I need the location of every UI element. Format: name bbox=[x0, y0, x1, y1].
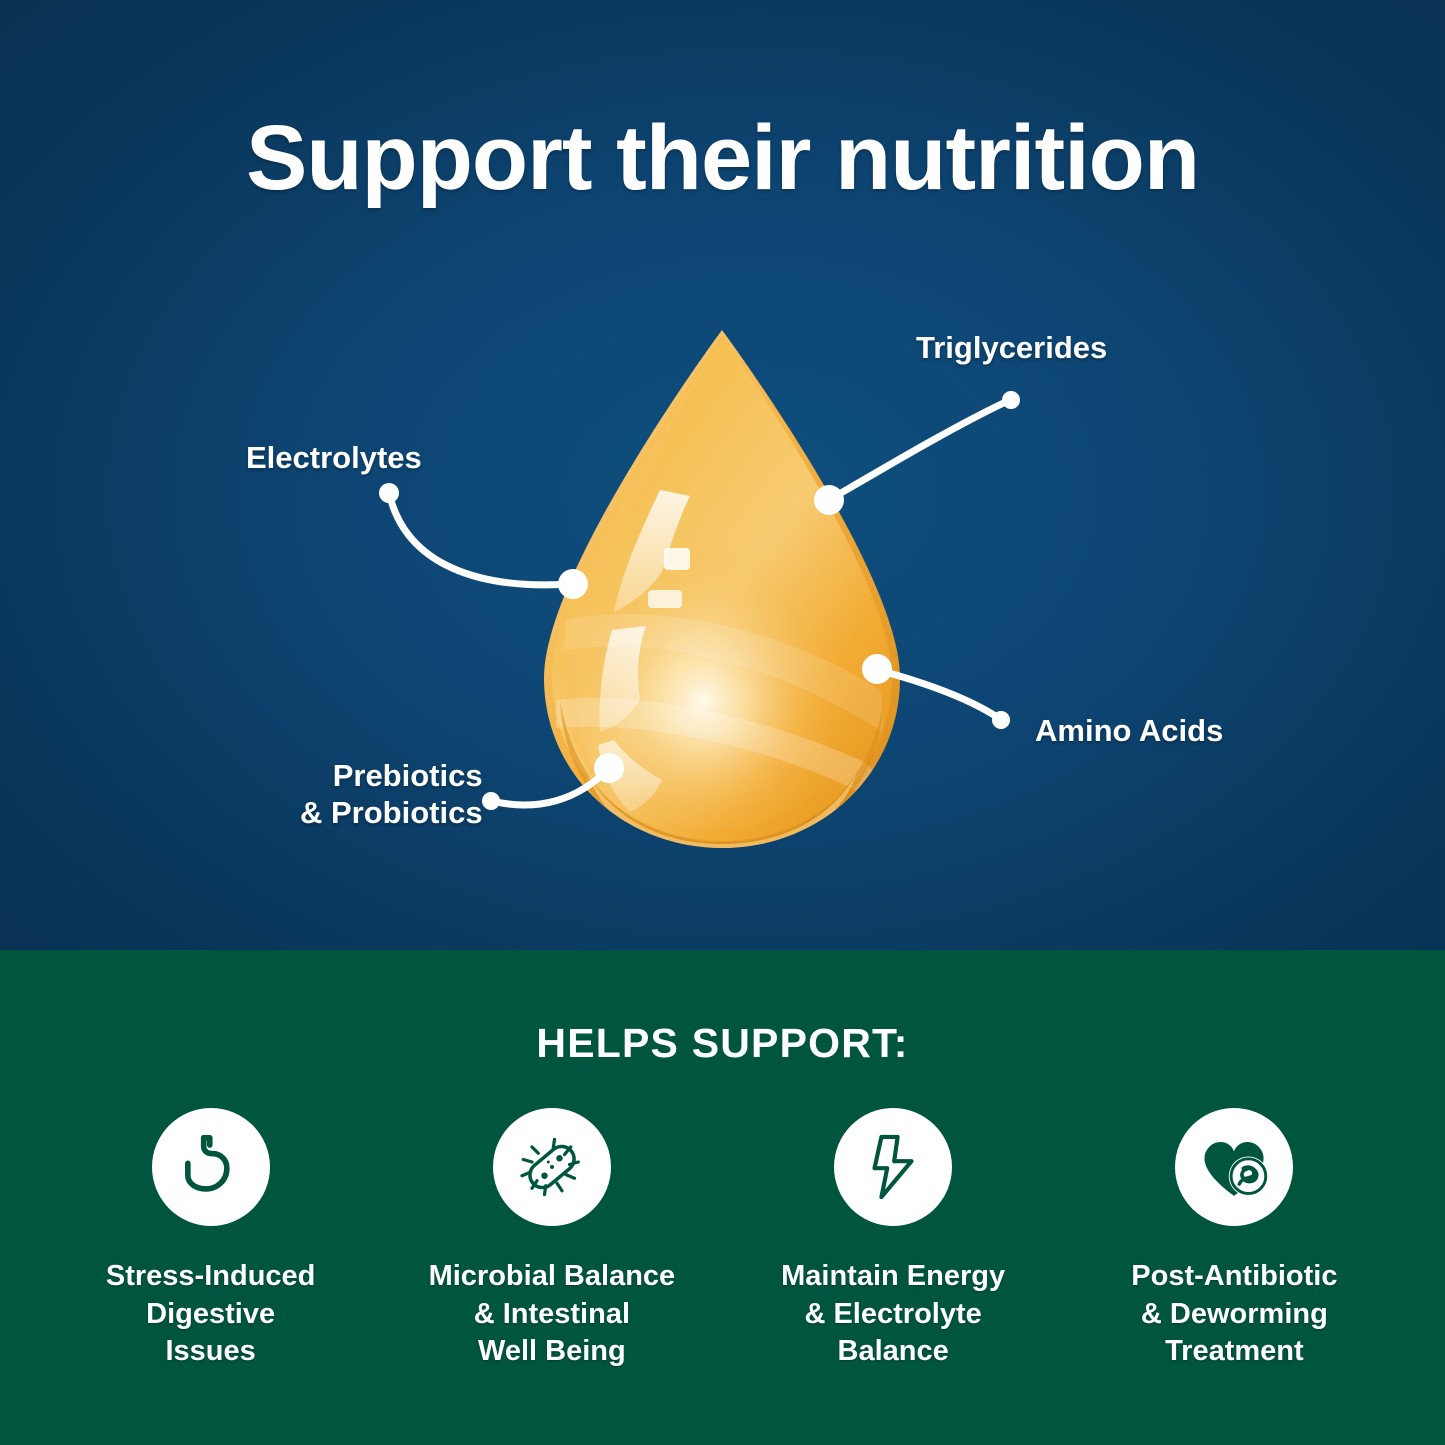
support-item-digestive: Stress-Induced Digestive Issues bbox=[66, 1108, 356, 1371]
callout-label-dots bbox=[379, 391, 1020, 810]
leader-line-electrolytes bbox=[389, 493, 572, 585]
leader-line-prebiotics bbox=[492, 769, 608, 805]
helps-support-heading: HELPS SUPPORT: bbox=[0, 1020, 1445, 1067]
support-label-post-antibiotic: Post-Antibiotic & Deworming Treatment bbox=[1131, 1258, 1337, 1371]
callout-anchor-dots bbox=[558, 485, 892, 783]
dot-triglycerides-label bbox=[1002, 391, 1020, 409]
droplet-highlight-c bbox=[598, 740, 662, 812]
stomach-icon bbox=[152, 1108, 270, 1226]
droplet-highlight-d bbox=[664, 548, 690, 570]
leader-line-amino-acids bbox=[878, 670, 1000, 719]
support-item-energy: Maintain Energy & Electrolyte Balance bbox=[748, 1108, 1038, 1371]
dot-electrolytes-label bbox=[379, 483, 399, 503]
callout-label-prebiotics-line2: & Probiotics bbox=[300, 795, 483, 832]
leader-line-triglycerides bbox=[829, 400, 1010, 500]
dot-electrolytes-anchor bbox=[558, 569, 588, 599]
page-title: Support their nutrition bbox=[0, 112, 1445, 204]
dot-prebiotics-anchor bbox=[594, 753, 624, 783]
callout-leader-lines bbox=[389, 400, 1010, 805]
hero-blue-panel: Support their nutrition bbox=[0, 0, 1445, 950]
droplet-core-glow bbox=[556, 490, 876, 830]
droplet-bottom-shadow bbox=[560, 700, 884, 848]
droplet-highlight-a bbox=[614, 490, 690, 612]
support-label-digestive: Stress-Induced Digestive Issues bbox=[106, 1258, 316, 1371]
infographic-page: Support their nutrition bbox=[0, 0, 1445, 1445]
dot-prebiotics-label bbox=[482, 792, 500, 810]
heart-worm-icon bbox=[1175, 1108, 1293, 1226]
callout-label-prebiotics: Prebiotics & Probiotics bbox=[300, 758, 483, 831]
droplet-highlight-b bbox=[600, 626, 647, 732]
lightning-bolt-icon bbox=[834, 1108, 952, 1226]
callout-label-triglycerides: Triglycerides bbox=[916, 330, 1107, 367]
bacteria-icon bbox=[493, 1108, 611, 1226]
droplet-rim bbox=[544, 330, 900, 848]
support-label-energy: Maintain Energy & Electrolyte Balance bbox=[781, 1258, 1005, 1371]
callout-label-prebiotics-line1: Prebiotics bbox=[333, 758, 483, 793]
callout-label-electrolytes: Electrolytes bbox=[246, 440, 422, 477]
droplet-bottom-rimlight bbox=[588, 775, 856, 852]
droplet-sheen bbox=[556, 698, 886, 806]
dot-triglycerides-anchor bbox=[814, 485, 844, 515]
support-item-post-antibiotic: Post-Antibiotic & Deworming Treatment bbox=[1089, 1108, 1379, 1371]
droplet-sheen-2 bbox=[564, 614, 883, 732]
dot-amino-acids-label bbox=[992, 711, 1010, 729]
droplet-body bbox=[552, 336, 892, 841]
droplet-inner-crease bbox=[566, 342, 722, 822]
support-label-microbial: Microbial Balance & Intestinal Well Bein… bbox=[429, 1258, 676, 1371]
droplet-highlight-e bbox=[648, 590, 682, 608]
support-benefits-row: Stress-Induced Digestive Issues bbox=[0, 1108, 1445, 1371]
dot-amino-acids-anchor bbox=[862, 654, 892, 684]
callout-label-amino-acids: Amino Acids bbox=[1035, 713, 1223, 750]
support-item-microbial: Microbial Balance & Intestinal Well Bein… bbox=[407, 1108, 697, 1371]
